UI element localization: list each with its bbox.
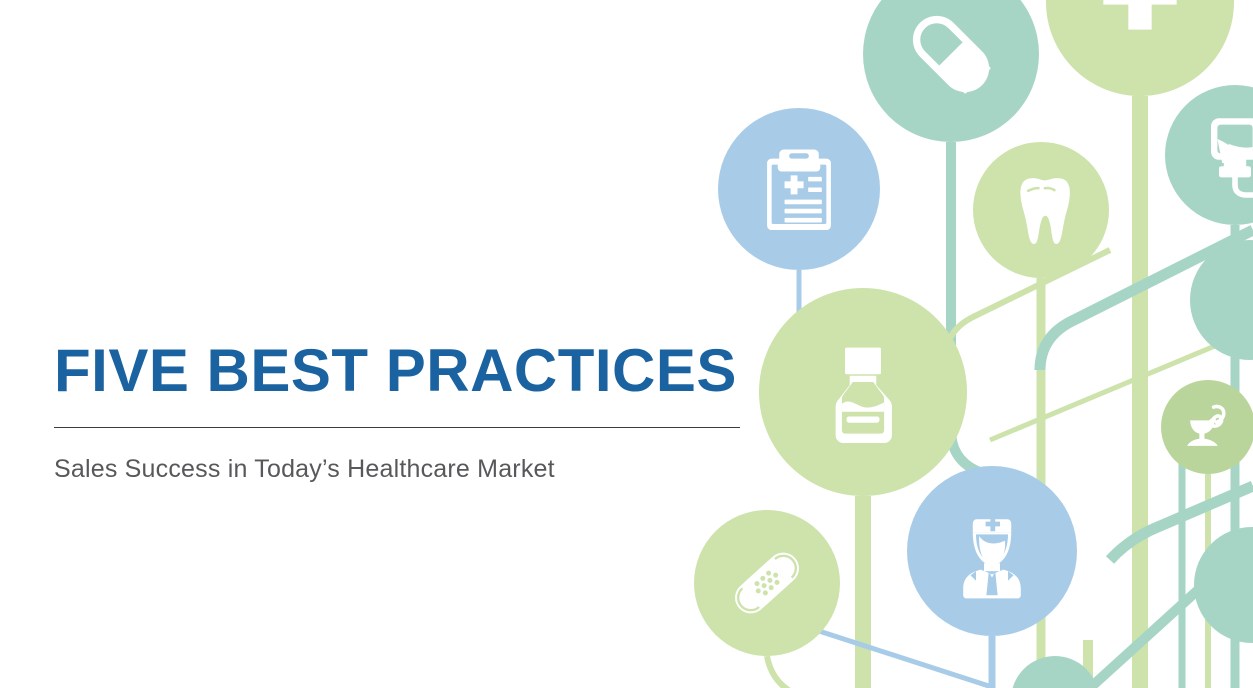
node-iv-bag [1165,85,1253,225]
bandage-icon [729,546,806,620]
title-slide: FIVE BEST PRACTICES Sales Success in Tod… [0,0,1253,688]
title-divider [54,427,740,428]
node-nurse [907,466,1077,636]
node-teal-right-lower [1194,527,1253,643]
node-medical-cross [1046,0,1234,96]
pharmacy-bowl-icon [1187,407,1224,446]
node-bandage [694,510,840,656]
node-teal-right-upper [1190,240,1253,360]
nurse-icon [963,517,1021,599]
iv-drip-icon [1211,118,1253,195]
node-clipboard [718,108,880,270]
pill-capsule-icon [903,6,999,102]
healthcare-node-graph-artwork [690,0,1253,688]
medicine-bottle-icon [836,348,892,443]
node-circles [694,0,1253,688]
node-tooth [973,142,1109,278]
node-medicine-bottle [759,288,967,496]
clipboard-medical-icon [767,149,831,230]
connector-lines [767,96,1253,688]
medical-cross-icon [1103,0,1176,30]
node-pharmacy-bowl [1161,380,1253,474]
title-text-block: FIVE BEST PRACTICES Sales Success in Tod… [54,341,744,484]
page-title: FIVE BEST PRACTICES [54,341,744,401]
page-subtitle: Sales Success in Today’s Healthcare Mark… [54,455,744,484]
node-teal-bottom [1011,656,1099,688]
node-capsule [863,0,1039,142]
tooth-icon [1020,178,1069,244]
